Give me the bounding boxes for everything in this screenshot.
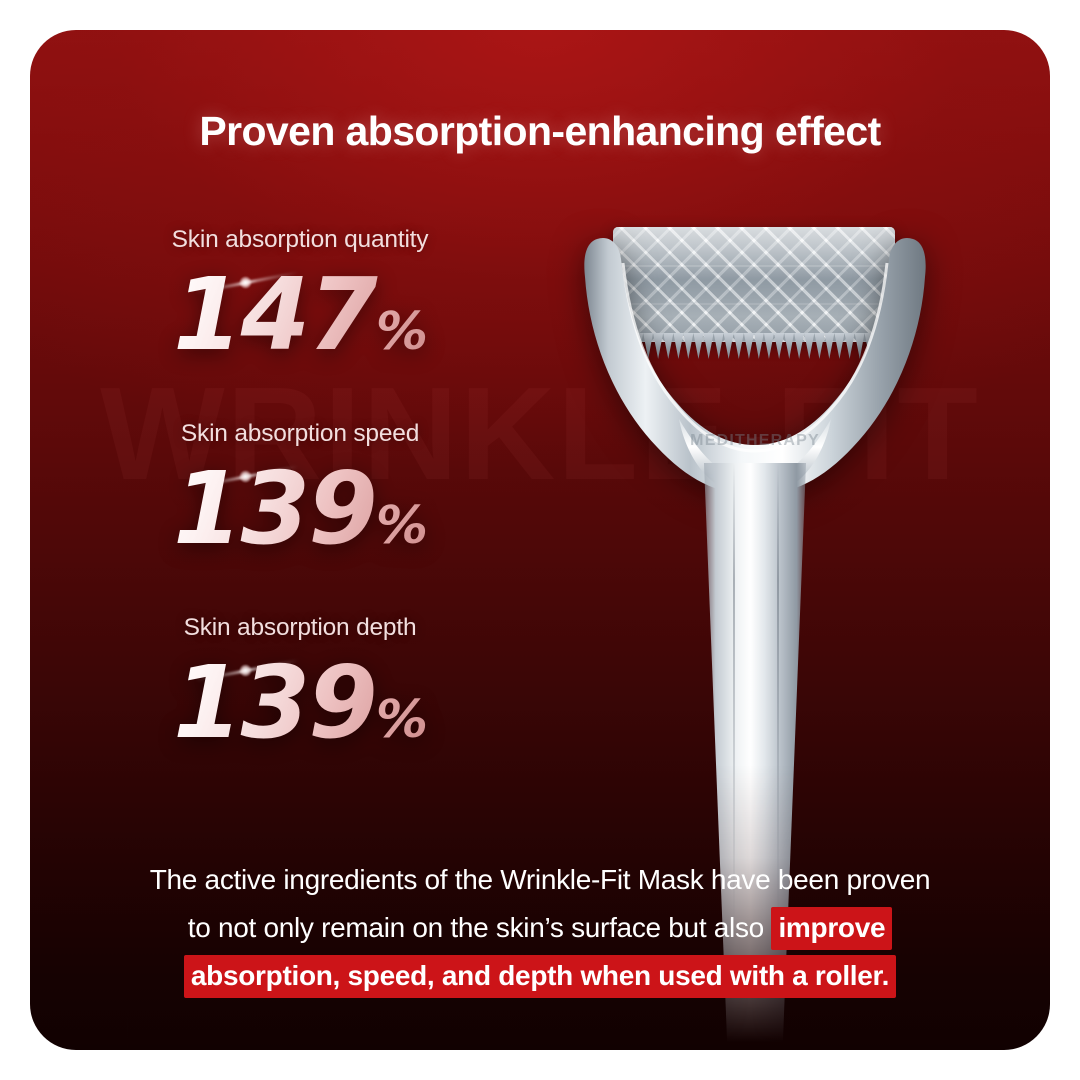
caption-line-2-plain: to not only remain on the skin’s surface…	[188, 912, 772, 943]
stat-unit: %	[376, 302, 427, 362]
stat-value: 139%	[173, 450, 427, 568]
caption-highlight-line-3: absorption, speed, and depth when used w…	[184, 955, 896, 998]
caption-line-1: The active ingredients of the Wrinkle-Fi…	[150, 864, 931, 895]
stat-value-wrap: 147%	[173, 256, 427, 374]
stat-value-wrap: 139%	[173, 644, 427, 762]
stat-item-absorption-speed: Skin absorption speed 139%	[30, 420, 570, 568]
stat-value: 139%	[173, 644, 427, 762]
page-title: Proven absorption-enhancing effect	[30, 108, 1050, 155]
stat-unit: %	[376, 496, 427, 556]
stat-label: Skin absorption quantity	[30, 226, 570, 254]
stat-number: 139	[173, 644, 376, 761]
promo-card: WRINKLE-FIT Proven absorption-enhancing …	[30, 30, 1050, 1050]
stat-value: 147%	[173, 256, 427, 374]
stat-item-absorption-depth: Skin absorption depth 139%	[30, 614, 570, 762]
stat-item-absorption-quantity: Skin absorption quantity 147%	[30, 226, 570, 374]
stat-label: Skin absorption depth	[30, 614, 570, 642]
caption-highlight-improve: improve	[771, 907, 892, 950]
poster-canvas: WRINKLE-FIT Proven absorption-enhancing …	[0, 0, 1080, 1080]
stat-value-wrap: 139%	[173, 450, 427, 568]
stat-number: 139	[173, 450, 376, 567]
stat-label: Skin absorption speed	[30, 420, 570, 448]
product-brand-label: MEDITHERAPY	[555, 432, 955, 450]
roller-yoke	[583, 233, 927, 501]
stat-number: 147	[173, 256, 376, 373]
stat-unit: %	[376, 690, 427, 750]
caption-block: The active ingredients of the Wrinkle-Fi…	[90, 856, 990, 1000]
